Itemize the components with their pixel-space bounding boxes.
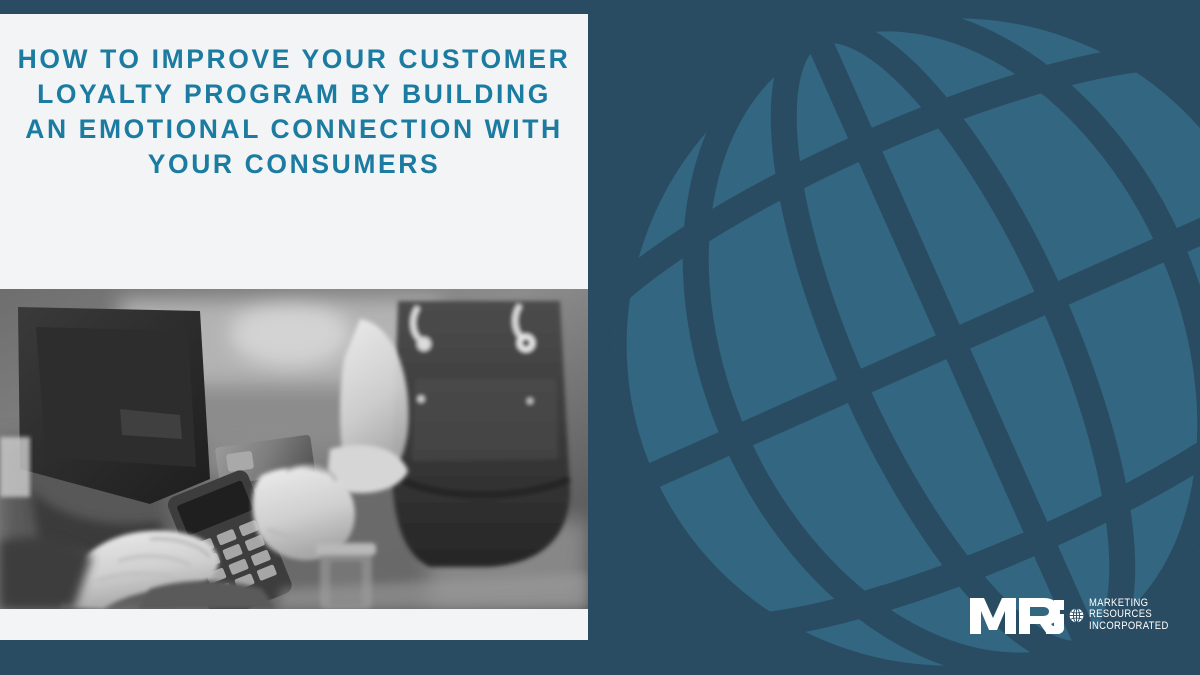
- mri-monogram-icon: [968, 594, 1064, 636]
- logo-line-incorporated: INCORPORATED: [1089, 621, 1169, 632]
- article-card: How to Improve Your Customer Loyalty Pro…: [0, 14, 588, 640]
- page-background: How to Improve Your Customer Loyalty Pro…: [0, 0, 1200, 675]
- article-photo: [0, 289, 588, 609]
- title-area: How to Improve Your Customer Loyalty Pro…: [0, 14, 588, 289]
- logo-wordmark: MARKETING RESOURCES INCORPORATED: [1089, 598, 1182, 632]
- globe-icon: [1069, 608, 1084, 623]
- globe-grid-graphic: [598, 0, 1200, 675]
- page-title: How to Improve Your Customer Loyalty Pro…: [14, 42, 574, 182]
- company-logo: MARKETING RESOURCES INCORPORATED: [968, 593, 1182, 637]
